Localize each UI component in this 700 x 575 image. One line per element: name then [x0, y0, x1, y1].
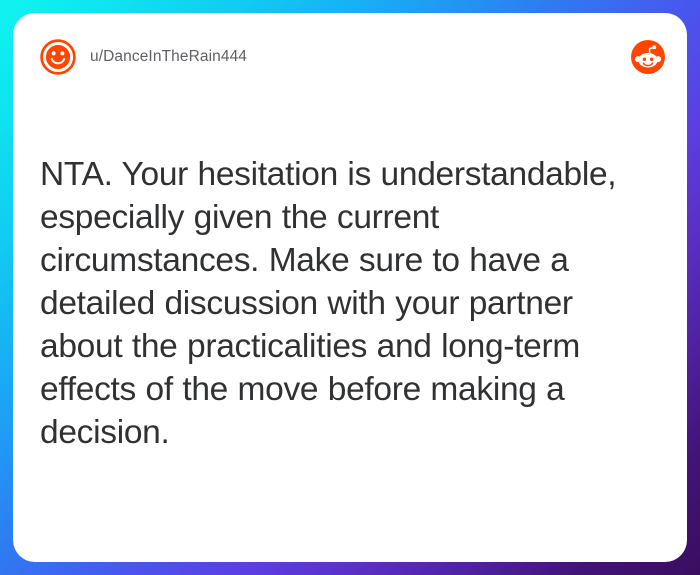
screenshot-stage: u/DanceInTheRain444 — [0, 0, 700, 575]
reddit-snoo-logo-icon — [631, 40, 665, 74]
brand-logo — [631, 40, 665, 74]
avatar — [39, 38, 77, 76]
reddit-post-card: u/DanceInTheRain444 — [13, 13, 687, 562]
post-text: NTA. Your hesitation is understandable, … — [40, 153, 662, 454]
post-body: NTA. Your hesitation is understandable, … — [40, 153, 662, 454]
username-label: u/DanceInTheRain444 — [90, 48, 247, 66]
post-header: u/DanceInTheRain444 — [13, 13, 687, 101]
smiley-face-avatar-icon — [39, 38, 77, 76]
